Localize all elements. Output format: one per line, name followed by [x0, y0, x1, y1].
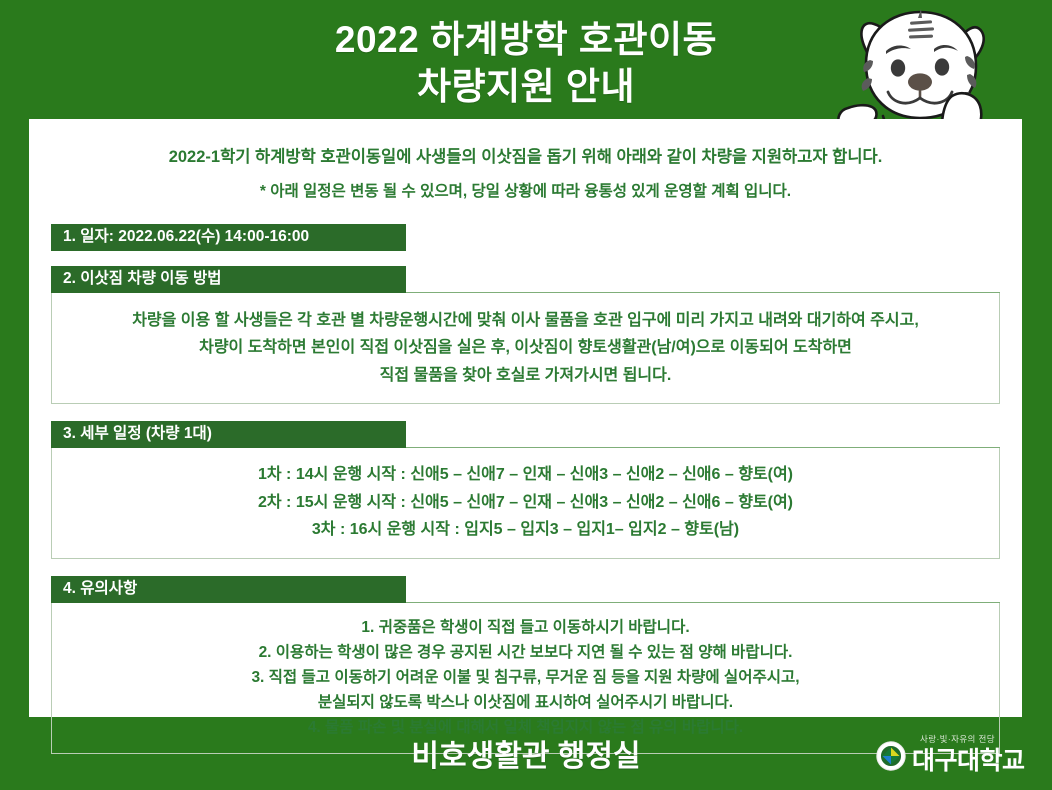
logo-university-name: 대구대학교	[912, 741, 1025, 777]
notice-line: 2. 이용하는 학생이 많은 경우 공지된 시간 보보다 지연 될 수 있는 점…	[68, 640, 983, 665]
notice-line: 3. 직접 들고 이동하기 어려운 이불 및 침구류, 무거운 짐 등을 지원 …	[68, 665, 983, 690]
university-emblem-icon	[876, 741, 906, 771]
section-2-header: 2. 이삿짐 차량 이동 방법	[51, 266, 406, 293]
body-line: 직접 물품을 찾아 호실로 가져가시면 됩니다.	[68, 362, 983, 390]
poster-footer: 비호생활관 행정실 사랑·빛·자유의 전당 대구대학교	[0, 717, 1052, 790]
schedule-line: 3차 : 16시 운행 시작 : 입지5 – 입지3 – 입지1– 입지2 – …	[68, 516, 983, 544]
notice-line: 분실되지 않도록 박스나 이삿짐에 표시하여 실어주시기 바랍니다.	[68, 690, 983, 715]
section-header-row: 4. 유의사항	[51, 576, 1000, 603]
intro-line-2: * 아래 일정은 변동 될 수 있으며, 당일 상황에 따라 융통성 있게 운영…	[55, 180, 996, 204]
section-header-row: 1. 일자: 2022.06.22(수) 14:00-16:00	[51, 224, 1000, 251]
section-detailed-schedule: 3. 세부 일정 (차량 1대) 1차 : 14시 운행 시작 : 신애5 – …	[51, 421, 1000, 559]
section-3-body: 1차 : 14시 운행 시작 : 신애5 – 신애7 – 인재 – 신애3 – …	[51, 448, 1000, 559]
section-4-header: 4. 유의사항	[51, 576, 406, 603]
section-date: 1. 일자: 2022.06.22(수) 14:00-16:00	[51, 224, 1000, 251]
title-line-2: 차량지원 안내	[0, 63, 1052, 110]
university-logo: 사랑·빛·자유의 전당 대구대학교	[876, 732, 1044, 778]
schedule-line: 1차 : 14시 운행 시작 : 신애5 – 신애7 – 인재 – 신애3 – …	[68, 461, 983, 489]
content-panel: 2022-1학기 하계방학 호관이동일에 사생들의 이삿짐을 돕기 위해 아래와…	[29, 119, 1022, 717]
poster-header: 2022 하계방학 호관이동 차량지원 안내	[0, 0, 1052, 120]
section-3-header: 3. 세부 일정 (차량 1대)	[51, 421, 406, 448]
title-line-1: 2022 하계방학 호관이동	[0, 16, 1052, 63]
page-title: 2022 하계방학 호관이동 차량지원 안내	[0, 16, 1052, 111]
notice-line: 1. 귀중품은 학생이 직접 들고 이동하시기 바랍니다.	[68, 615, 983, 640]
section-header-row: 3. 세부 일정 (차량 1대)	[51, 421, 1000, 448]
intro-line-1: 2022-1학기 하계방학 호관이동일에 사생들의 이삿짐을 돕기 위해 아래와…	[55, 145, 996, 171]
section-header-row: 2. 이삿짐 차량 이동 방법	[51, 266, 1000, 293]
schedule-line: 2차 : 15시 운행 시작 : 신애5 – 신애7 – 인재 – 신애3 – …	[68, 489, 983, 517]
body-line: 차량을 이용 할 사생들은 각 호관 별 차량운행시간에 맞춰 이사 물품을 호…	[68, 307, 983, 335]
section-move-method: 2. 이삿짐 차량 이동 방법 차량을 이용 할 사생들은 각 호관 별 차량운…	[51, 266, 1000, 405]
body-line: 차량이 도착하면 본인이 직접 이삿짐을 실은 후, 이삿짐이 향토생활관(남/…	[68, 334, 983, 362]
section-1-header: 1. 일자: 2022.06.22(수) 14:00-16:00	[51, 224, 406, 251]
section-2-body: 차량을 이용 할 사생들은 각 호관 별 차량운행시간에 맞춰 이사 물품을 호…	[51, 293, 1000, 405]
intro-block: 2022-1학기 하계방학 호관이동일에 사생들의 이삿짐을 돕기 위해 아래와…	[29, 119, 1022, 204]
